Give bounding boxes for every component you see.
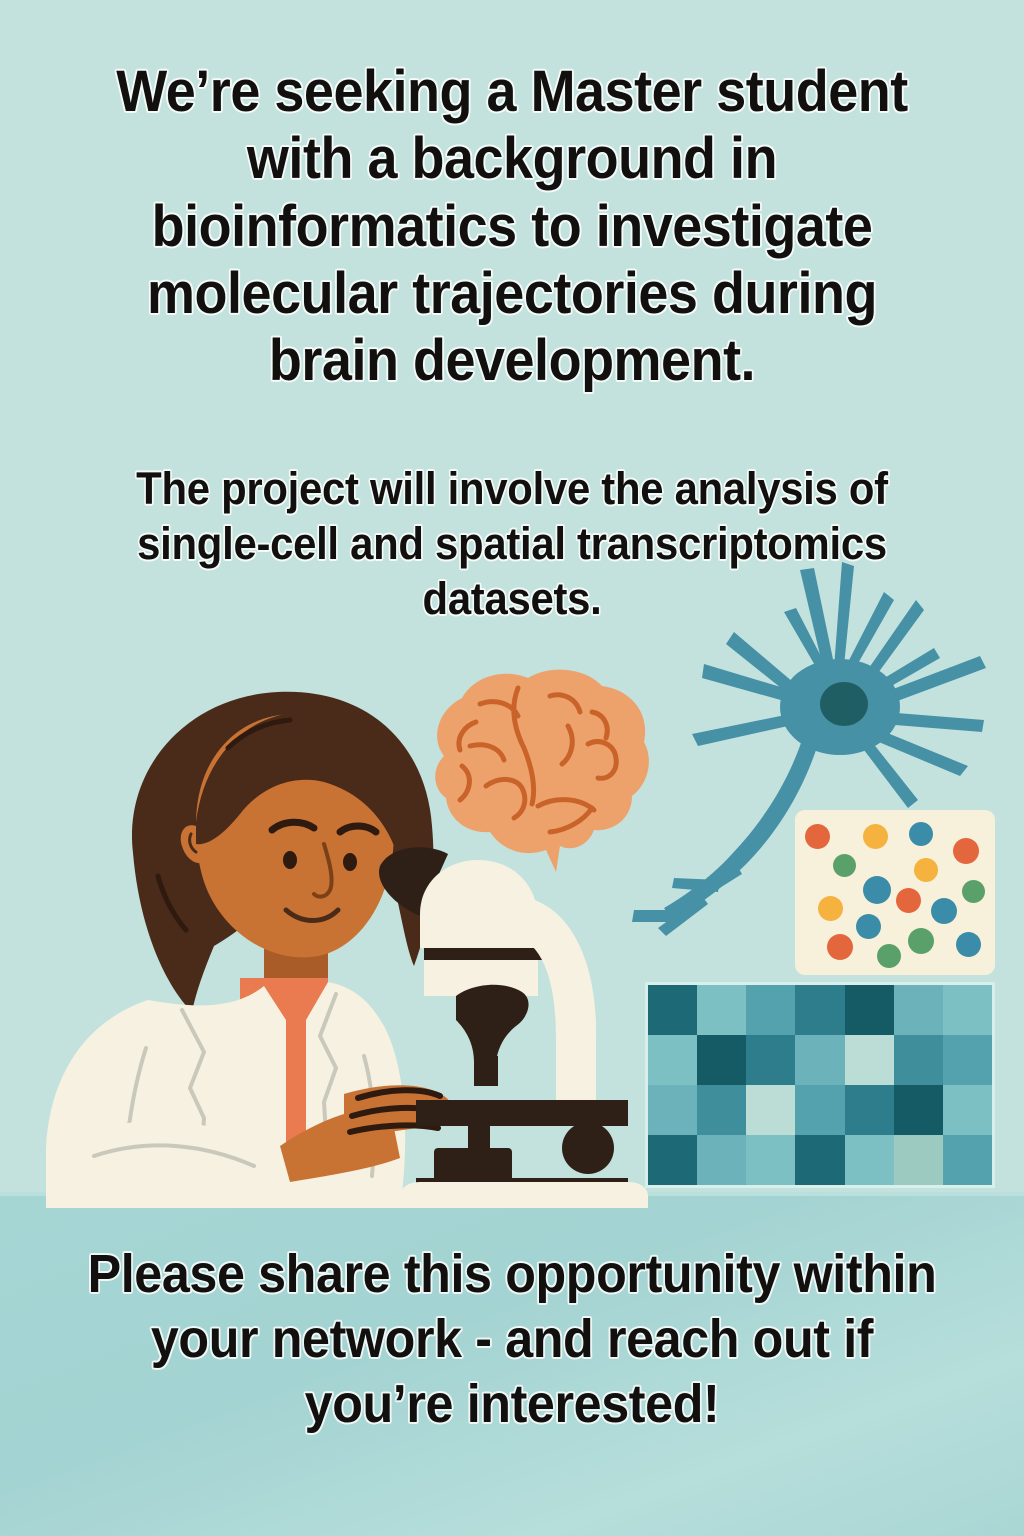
scatter-dot [863,876,891,904]
heatmap-cell [648,1085,697,1135]
scatter-dot [931,898,957,924]
scatter-dot [818,896,843,921]
scatter-dot [827,934,853,960]
microscope-objective-lens [474,1056,498,1086]
scatter-dot [805,824,830,849]
poster-canvas: We’re seeking a Master student with a ba… [0,0,1024,1536]
heatmap-cell [894,1035,943,1085]
heatmap-cell [697,1085,746,1135]
scatter-dot [909,822,933,846]
heatmap-cell [845,1085,894,1135]
heatmap-panel [648,985,992,1185]
scatter-panel [795,810,995,975]
heatmap-cell [697,1135,746,1185]
heatmap-cell [746,985,795,1035]
heatmap-cell [795,1135,844,1185]
heatmap-cell [795,985,844,1035]
scatter-dot [856,914,881,939]
heatmap-cell [795,1035,844,1085]
heatmap-cell [943,1035,992,1085]
scatter-dot [956,932,981,957]
neuron-nucleus [820,682,868,726]
heatmap-cell [943,985,992,1035]
page-title: We’re seeking a Master student with a ba… [82,58,941,394]
eye-left [283,851,297,869]
heatmap-cell [746,1035,795,1085]
heatmap-cell [746,1135,795,1185]
scatter-dot [953,838,979,864]
heatmap-cell [943,1085,992,1135]
heatmap-cell [894,1085,943,1135]
scatter-dot [896,888,921,913]
heatmap-cell [943,1135,992,1185]
heatmap-cell [697,985,746,1035]
heatmap-cell [894,1135,943,1185]
heatmap-cell [648,985,697,1035]
microscope-objectives [456,985,529,1062]
microscope-base [400,1182,648,1208]
scatter-dot [877,944,901,968]
microscope-focus-knob [562,1122,614,1174]
scatter-dot [833,854,856,877]
scatter-dot [962,880,985,903]
footer-call-to-action: Please share this opportunity within you… [73,1242,951,1436]
microscope-slit [424,948,542,960]
heatmap-cell [845,985,894,1035]
microscope-stage [416,1100,628,1126]
scatter-dot [908,928,934,954]
heatmap-cell [845,1135,894,1185]
heatmap-cell [845,1035,894,1085]
heatmap-cell [795,1085,844,1135]
heatmap-cell [894,985,943,1035]
microscope-arm [518,898,596,1118]
heatmap-cell [746,1085,795,1135]
eye-right [343,853,357,871]
heatmap-cell [697,1035,746,1085]
heatmap-cell [648,1135,697,1185]
heatmap-cell [648,1035,697,1085]
scatter-dot [863,824,888,849]
scatter-dot [914,858,938,882]
